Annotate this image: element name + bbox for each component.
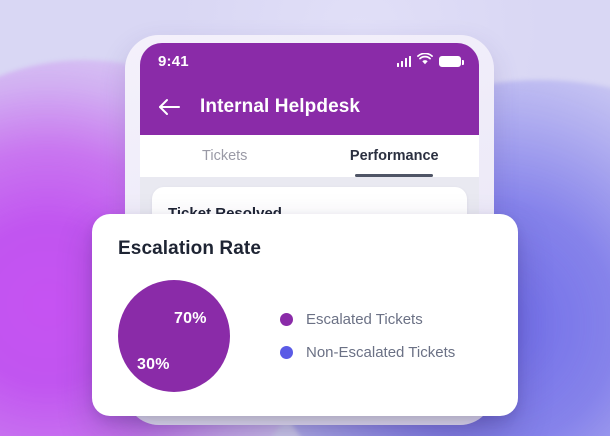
chart-legend: Escalated Tickets Non-Escalated Tickets [280, 311, 455, 361]
legend-label-non-escalated: Non-Escalated Tickets [306, 344, 455, 361]
legend-dot-escalated [280, 313, 293, 326]
legend-dot-non-escalated [280, 346, 293, 359]
status-icons [397, 52, 462, 70]
legend-item-non-escalated: Non-Escalated Tickets [280, 344, 455, 361]
app-header: 9:41 [140, 43, 479, 135]
escalation-rate-card: Escalation Rate 70% 30% Escalated Ticket… [92, 214, 518, 416]
pie-slices [118, 280, 230, 392]
status-bar: 9:41 [140, 43, 479, 79]
back-arrow-icon[interactable] [156, 94, 182, 120]
pie-label-escalated: 70% [174, 310, 207, 328]
tab-bar: Tickets Performance [140, 135, 479, 177]
screenshot-stage: 9:41 [0, 0, 610, 436]
page-title: Internal Helpdesk [200, 96, 360, 118]
legend-label-escalated: Escalated Tickets [306, 311, 423, 328]
pie-label-non-escalated: 30% [137, 356, 170, 374]
escalation-rate-title: Escalation Rate [118, 238, 492, 260]
signal-bars-icon [397, 56, 412, 67]
status-time: 9:41 [158, 53, 189, 70]
app-bar: Internal Helpdesk [140, 79, 479, 135]
legend-item-escalated: Escalated Tickets [280, 311, 455, 328]
battery-icon [439, 56, 461, 67]
tab-tickets[interactable]: Tickets [140, 135, 310, 177]
chart-row: 70% 30% Escalated Tickets Non-Escalated … [118, 280, 492, 392]
pie-chart: 70% 30% [118, 280, 230, 392]
tab-performance[interactable]: Performance [310, 135, 480, 177]
wifi-icon [417, 52, 433, 70]
